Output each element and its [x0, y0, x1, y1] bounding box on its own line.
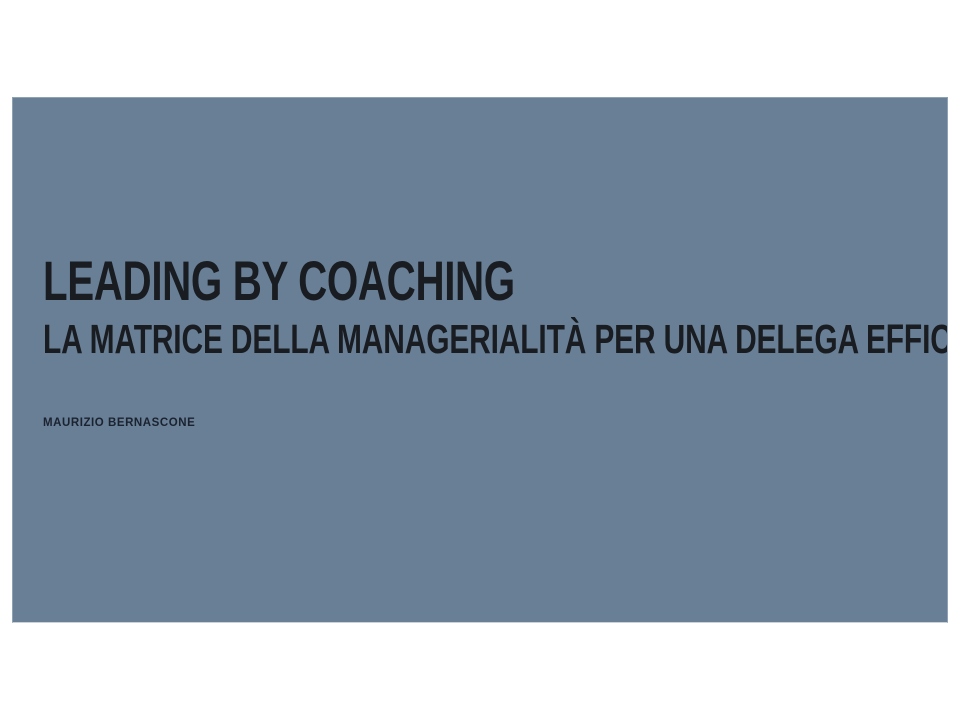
- slide-subtitle: LA MATRICE DELLA MANAGERIALITÀ PER UNA D…: [43, 319, 671, 360]
- page-canvas: LEADING BY COACHING LA MATRICE DELLA MAN…: [0, 0, 960, 720]
- slide-author: MAURIZIO BERNASCONE: [43, 417, 195, 429]
- slide-title: LEADING BY COACHING: [43, 253, 662, 309]
- slide-text-block: LEADING BY COACHING LA MATRICE DELLA MAN…: [43, 253, 903, 360]
- presentation-slide: LEADING BY COACHING LA MATRICE DELLA MAN…: [12, 97, 948, 623]
